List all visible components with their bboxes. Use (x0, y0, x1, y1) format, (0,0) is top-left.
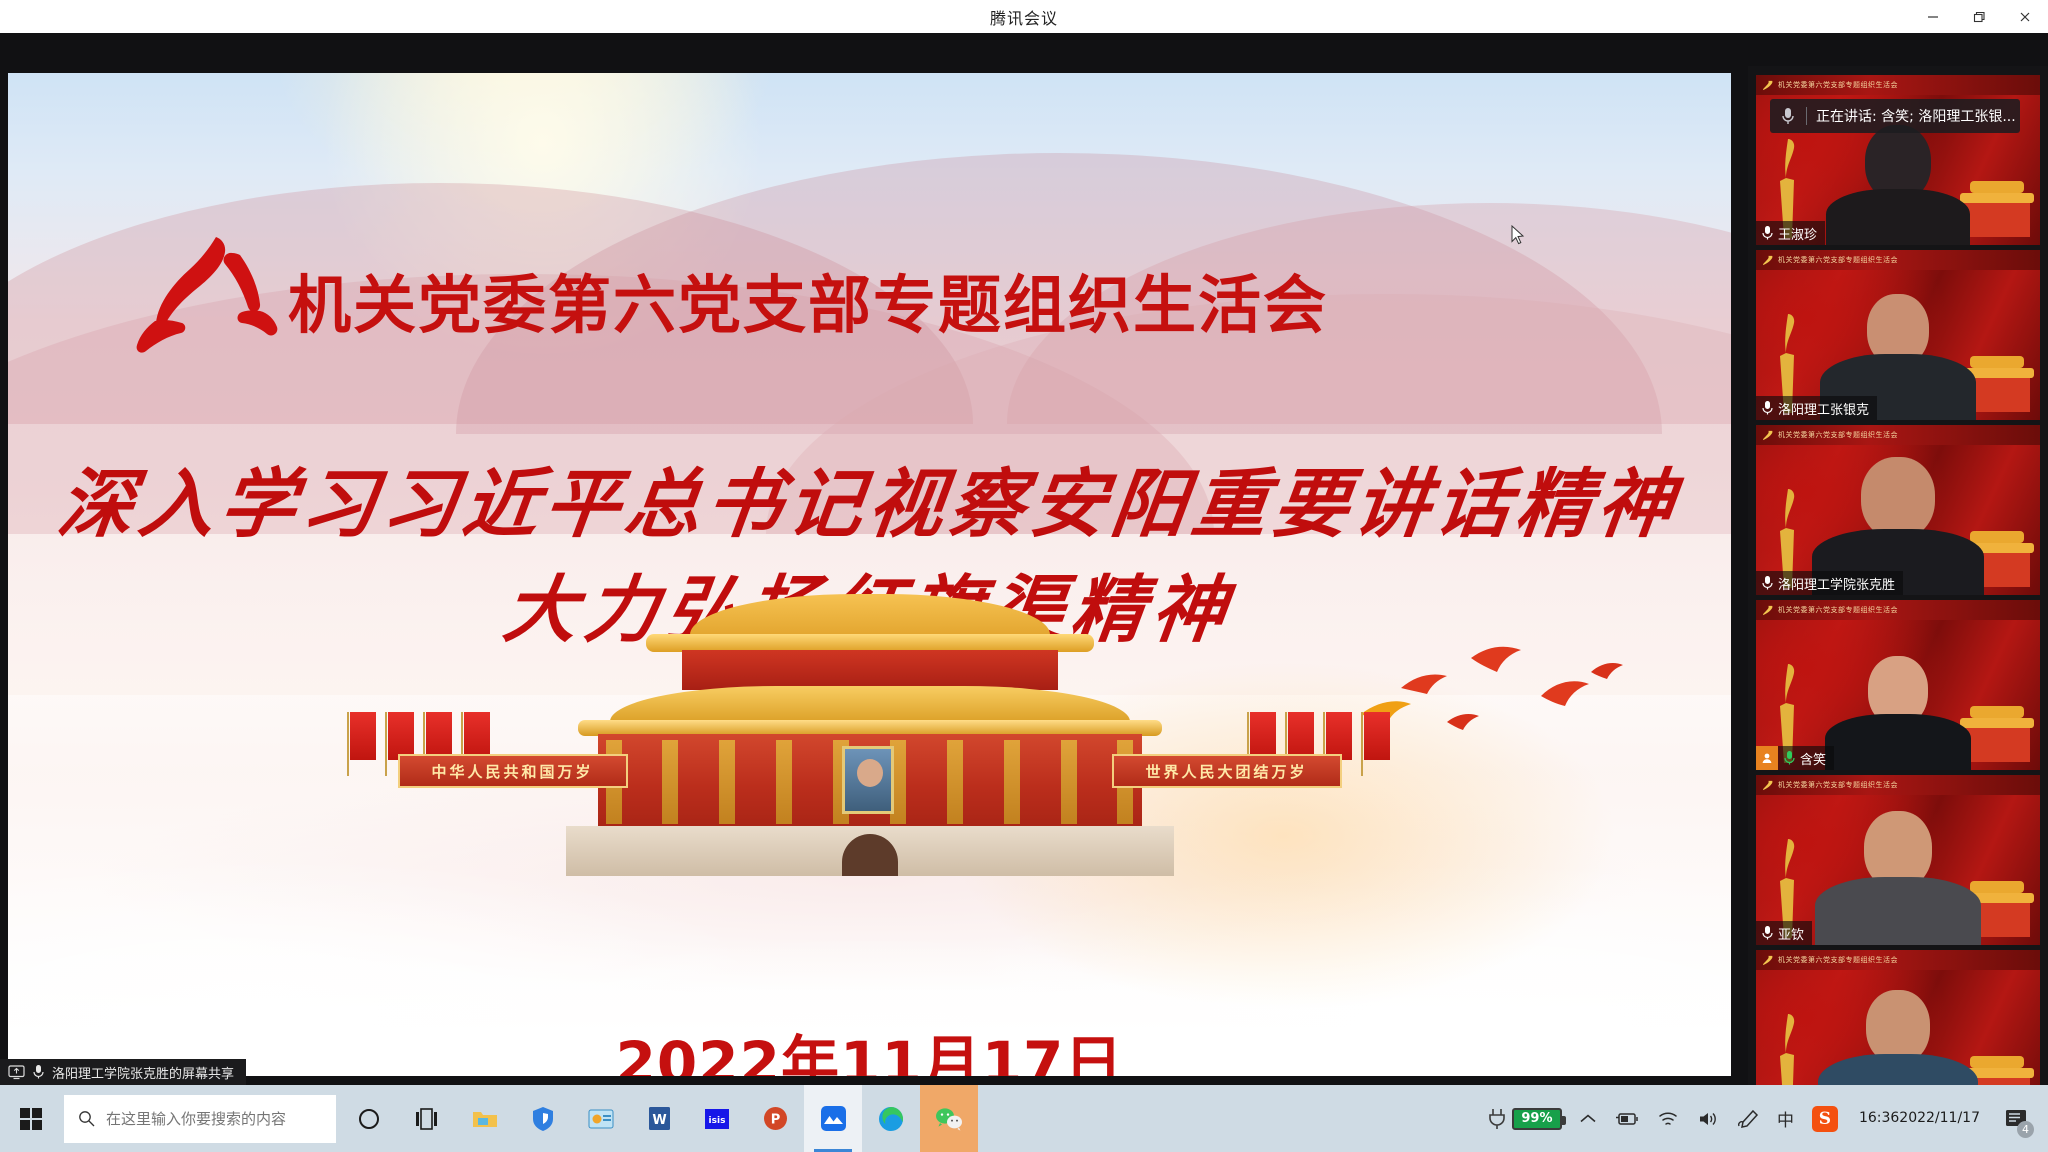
search-icon (78, 1110, 95, 1127)
tiananmen-illustration: 中华人民共和国万岁 世界人民大团结万岁 (550, 594, 1190, 924)
taskbar-app-security[interactable] (514, 1085, 572, 1152)
edge-icon (878, 1106, 904, 1132)
microphone-icon (1756, 221, 1778, 245)
screen-share-bar: 洛阳理工学院张克胜的屏幕共享 (0, 1059, 246, 1085)
background-watermark: 机关党委第六党支部专题组织生活会 (1756, 425, 2040, 445)
watermark-text: 机关党委第六党支部专题组织生活会 (1778, 605, 1898, 615)
participant-tile[interactable]: 机关党委第六党支部专题组织生活会 (1756, 600, 2040, 770)
slide-date: 2022年11月17日 (8, 1016, 1731, 1076)
clock-date: 2022/11/17 (1899, 1110, 1980, 1128)
battery-icon: 99% (1512, 1108, 1562, 1130)
pen-icon (1737, 1109, 1759, 1129)
sogou-input-button[interactable]: S (1803, 1085, 1847, 1152)
system-tray: 99% 中 (1478, 1085, 2048, 1152)
watermark-text: 机关党委第六党支部专题组织生活会 (1778, 80, 1898, 90)
person-head (1866, 990, 1930, 1064)
taskbar-app-cortana[interactable] (340, 1085, 398, 1152)
svg-text:P: P (770, 1113, 780, 1128)
party-emblem-icon (1762, 430, 1773, 441)
task-view-icon (415, 1108, 439, 1130)
person-head (1861, 457, 1935, 539)
microphone-icon (1770, 106, 1806, 126)
taskbar-app-isis[interactable]: isis (688, 1085, 746, 1152)
participant-tile[interactable]: 机关党委第六党支部专题组织生活会 洛阳理工张银克 (1756, 250, 2040, 420)
ime-language-button[interactable]: 中 (1768, 1085, 1803, 1152)
party-emblem-icon (1762, 255, 1773, 266)
window-controls (1910, 0, 2048, 33)
shield-icon (531, 1106, 555, 1132)
taskbar-app-wechat[interactable] (920, 1085, 978, 1152)
background-watermark: 机关党委第六党支部专题组织生活会 (1756, 600, 2040, 620)
banner-left: 中华人民共和国万岁 (398, 754, 628, 788)
tencent-meeting-icon (820, 1105, 847, 1132)
participant-video (1823, 121, 1973, 245)
participant-name: 含笑 (1800, 749, 1826, 768)
battery-percent: 99% (1521, 1111, 1552, 1126)
watermark-text: 机关党委第六党支部专题组织生活会 (1778, 780, 1898, 790)
flags-left (350, 712, 490, 760)
taskbar-search[interactable] (64, 1095, 336, 1143)
share-bar-text: 洛阳理工学院张克胜的屏幕共享 (52, 1063, 234, 1082)
taskbar-app-edge[interactable] (862, 1085, 920, 1152)
battery-saver-button[interactable] (1606, 1085, 1648, 1152)
minimize-button[interactable] (1910, 0, 1956, 33)
participant-namebar: 亚钦 (1756, 921, 1812, 945)
participant-video-rail[interactable]: 机关党委第六党支部专题组织生活会 正 (1748, 66, 2048, 1118)
wechat-icon (935, 1107, 963, 1131)
background-watermark: 机关党委第六党支部专题组织生活会 (1756, 75, 2040, 95)
background-watermark: 机关党委第六党支部专题组织生活会 (1756, 775, 2040, 795)
participant-namebar: 洛阳理工学院张克胜 (1756, 571, 1903, 595)
participant-name: 洛阳理工学院张克胜 (1778, 574, 1895, 593)
svg-text:W: W (652, 1113, 666, 1128)
divider (1806, 107, 1807, 125)
speaking-banner: 正在讲话: 含笑; 洛阳理工张银... (1770, 99, 2020, 133)
participant-tile[interactable]: 机关党委第六党支部专题组织生活会 洛阳理工学院张克胜 (1756, 425, 2040, 595)
party-emblem-icon (120, 225, 300, 390)
microphone-icon (1778, 746, 1800, 770)
participant-tile[interactable]: 机关党委第六党支部专题组织生活会 亚钦 (1756, 775, 2040, 945)
slide-title: 机关党委第六党支部专题组织生活会 (288, 255, 1488, 346)
microphone-icon (1756, 921, 1778, 945)
participant-namebar: 洛阳理工张银克 (1756, 396, 1877, 420)
wifi-icon (1657, 1110, 1679, 1128)
mao-portrait (842, 746, 894, 814)
search-input[interactable] (106, 1110, 306, 1128)
show-hidden-icons-button[interactable] (1570, 1085, 1606, 1152)
pen-button[interactable] (1728, 1085, 1768, 1152)
notification-count: 4 (2017, 1121, 2034, 1138)
volume-icon (1697, 1110, 1719, 1128)
upper-wall (682, 650, 1058, 690)
party-emblem-icon (1762, 955, 1773, 966)
slide-calligraphy-line-1: 深入学习习近平总书记视察安阳重要讲话精神 (8, 443, 1731, 552)
mouse-cursor (1511, 225, 1525, 245)
participant-tile[interactable]: 机关党委第六党支部专题组织生活会 正 (1756, 75, 2040, 245)
window-titlebar: 腾讯会议 (0, 0, 2048, 33)
power-plug-icon (1486, 1107, 1508, 1131)
watermark-text: 机关党委第六党支部专题组织生活会 (1778, 430, 1898, 440)
battery-status[interactable]: 99% (1478, 1085, 1570, 1152)
volume-button[interactable] (1688, 1085, 1728, 1152)
wifi-button[interactable] (1648, 1085, 1688, 1152)
taskbar-app-file-explorer[interactable] (456, 1085, 514, 1152)
watermark-text: 机关党委第六党支部专题组织生活会 (1778, 955, 1898, 965)
clock[interactable]: 16:36 2022/11/17 (1847, 1085, 1992, 1152)
party-emblem-icon (1762, 80, 1773, 91)
participant-name: 王淑珍 (1778, 224, 1817, 243)
doves-decoration (1361, 618, 1661, 738)
participant-name: 亚钦 (1778, 924, 1804, 943)
battery-saver-icon (1615, 1110, 1639, 1128)
person-body (1825, 714, 1971, 770)
ime-label: 中 (1777, 1106, 1794, 1131)
window-title: 腾讯会议 (990, 5, 1058, 29)
screen-share-icon (8, 1065, 25, 1080)
media-icon (588, 1109, 614, 1129)
party-emblem-icon (1762, 605, 1773, 616)
participant-namebar: 含笑 (1756, 746, 1834, 770)
taskbar-app-powerpoint[interactable]: P (746, 1085, 804, 1152)
taskbar-app-buttons: W isis P (340, 1085, 978, 1152)
maximize-button[interactable] (1956, 0, 2002, 33)
isis-icon: isis (704, 1108, 730, 1130)
microphone-icon (1756, 396, 1778, 420)
participant-video (1813, 807, 1983, 945)
folder-icon (472, 1108, 498, 1130)
sogou-icon: S (1812, 1106, 1838, 1132)
shared-screen-stage[interactable]: 机关党委第六党支部专题组织生活会 深入学习习近平总书记视察安阳重要讲话精神 大力… (8, 73, 1731, 1076)
presentation-slide: 机关党委第六党支部专题组织生活会 深入学习习近平总书记视察安阳重要讲话精神 大力… (8, 73, 1731, 1076)
participant-name: 洛阳理工张银克 (1778, 399, 1869, 418)
watermark-text: 机关党委第六党支部专题组织生活会 (1778, 255, 1898, 265)
taskbar-app-tencent-meeting[interactable] (804, 1085, 862, 1152)
participant-namebar: 王淑珍 (1756, 221, 1825, 245)
close-button[interactable] (2002, 0, 2048, 33)
taskbar-app-word[interactable]: W (630, 1085, 688, 1152)
action-center-button[interactable]: 4 (1992, 1085, 2040, 1152)
host-badge (1756, 746, 1778, 770)
banner-right: 世界人民大团结万岁 (1112, 754, 1342, 788)
speaking-text: 正在讲话: 含笑; 洛阳理工张银... (1816, 106, 2016, 126)
microphone-icon (1756, 571, 1778, 595)
word-icon: W (648, 1106, 671, 1131)
party-emblem-icon (1762, 780, 1773, 791)
person-body (1826, 189, 1970, 245)
background-watermark: 机关党委第六党支部专题组织生活会 (1756, 250, 2040, 270)
microphone-icon (32, 1064, 45, 1080)
taskbar-app-task-view[interactable] (398, 1085, 456, 1152)
svg-text:isis: isis (709, 1116, 726, 1126)
windows-start-icon[interactable] (0, 1085, 62, 1152)
circle-icon (357, 1107, 381, 1131)
clock-time: 16:36 (1859, 1110, 1899, 1128)
background-watermark: 机关党委第六党支部专题组织生活会 (1756, 950, 2040, 970)
powerpoint-icon: P (763, 1106, 788, 1131)
flags-right (1250, 712, 1390, 760)
participant-video (1823, 650, 1973, 770)
meeting-window-body: 机关党委第六党支部专题组织生活会 深入学习习近平总书记视察安阳重要讲话精神 大力… (0, 33, 2048, 1085)
taskbar-app-media[interactable] (572, 1085, 630, 1152)
windows-taskbar: W isis P (0, 1085, 2048, 1152)
person-body (1815, 877, 1981, 945)
chevron-up-icon (1579, 1113, 1597, 1125)
